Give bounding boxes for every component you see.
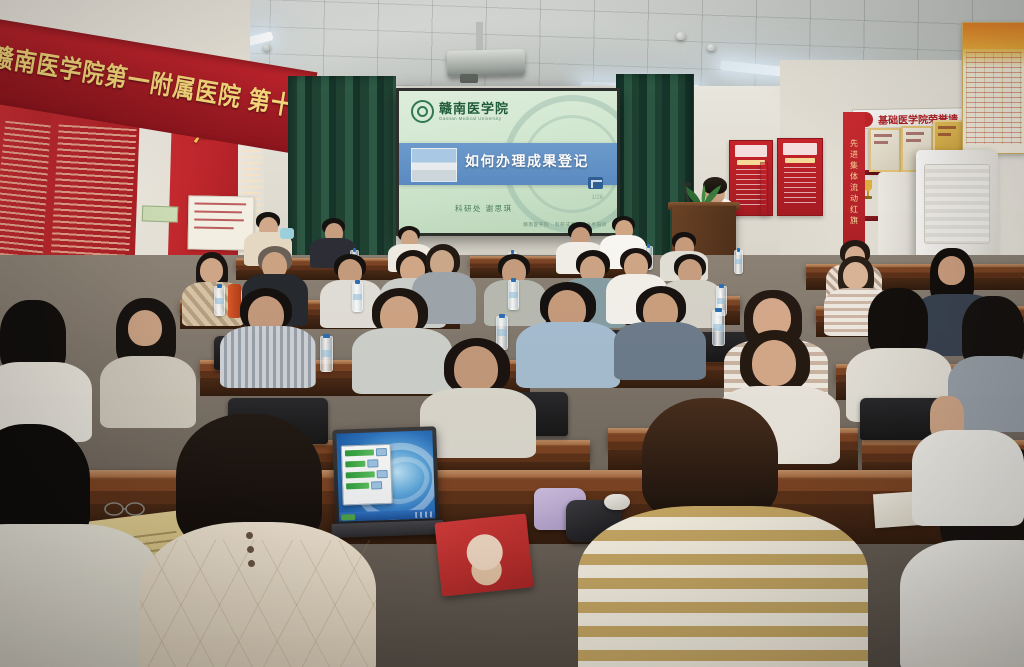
smoke-detector-icon	[263, 44, 271, 51]
dialog-row[interactable]	[346, 481, 388, 490]
slide-decoration-icon	[588, 177, 603, 189]
wall-info-chart-rows	[966, 52, 1022, 144]
microphone-icon	[684, 182, 691, 187]
water-bottle	[352, 282, 363, 312]
smoke-detector-icon	[676, 32, 686, 40]
notebook-cover-art	[454, 527, 518, 589]
photo-scene: ☭ 赣南医学院第一附属医院 第十一届工会第一次会员代表大会 基础医学院荣誉墙	[0, 0, 1024, 667]
slide-footer-text: 赣南医学院 · 科研成果登记业务培训	[523, 222, 607, 228]
sweater-button	[248, 560, 255, 567]
projector-lens	[460, 74, 478, 83]
water-bottle	[320, 336, 333, 372]
glasses-icon	[104, 502, 146, 516]
projector-mount	[476, 22, 483, 52]
wall-info-chart-header	[963, 23, 1024, 49]
laptop-screen[interactable]	[336, 430, 435, 521]
start-button[interactable]	[341, 514, 355, 520]
laptop[interactable]	[332, 426, 440, 538]
desk-mouse[interactable]	[604, 494, 630, 510]
sweater-diamond-pattern	[140, 540, 376, 667]
water-bottle	[214, 286, 225, 316]
dialog-row[interactable]	[345, 459, 387, 468]
honor-red-banner-text: 先进集体 流动红旗	[849, 138, 859, 226]
dialog-row[interactable]	[345, 448, 387, 457]
sweater-button	[247, 546, 254, 553]
wall-plaque	[142, 205, 179, 222]
ac-vent	[924, 164, 990, 244]
certificate-plaque	[869, 128, 901, 172]
system-tray[interactable]	[415, 511, 433, 518]
slide-page-number: 1/26	[591, 195, 603, 201]
slide-thumbnail-image	[411, 148, 457, 182]
wall-poster-edge	[760, 162, 768, 216]
slide-title-text: 如何办理成果登记	[465, 151, 595, 171]
slide-presenter-text: 科研处 谢思琪	[455, 203, 513, 214]
laptop-dialog-window[interactable]	[341, 444, 393, 506]
water-bottle	[712, 310, 725, 346]
university-name-en: Gannan Medical University	[439, 117, 509, 121]
water-bottle	[508, 280, 519, 310]
projection-screen: 赣南医学院 Gannan Medical University 如何办理成果登记…	[399, 91, 617, 233]
university-name-cn: 赣南医学院	[439, 102, 509, 115]
university-logo-icon	[411, 100, 434, 123]
dialog-row[interactable]	[346, 470, 388, 479]
slide-university-logo: 赣南医学院 Gannan Medical University	[411, 100, 509, 123]
smoke-detector-icon	[707, 44, 716, 51]
wall-poster-right	[777, 138, 823, 216]
projector-icon	[447, 49, 526, 77]
sweater-button	[246, 532, 253, 539]
wall-info-chart	[962, 22, 1024, 154]
projection-screen-frame: 赣南医学院 Gannan Medical University 如何办理成果登记…	[396, 88, 620, 236]
water-bottle	[734, 250, 743, 274]
laptop-lid	[332, 426, 439, 526]
foreground-desk	[0, 470, 1024, 504]
face-mask	[280, 228, 294, 239]
red-notebook	[434, 513, 533, 596]
